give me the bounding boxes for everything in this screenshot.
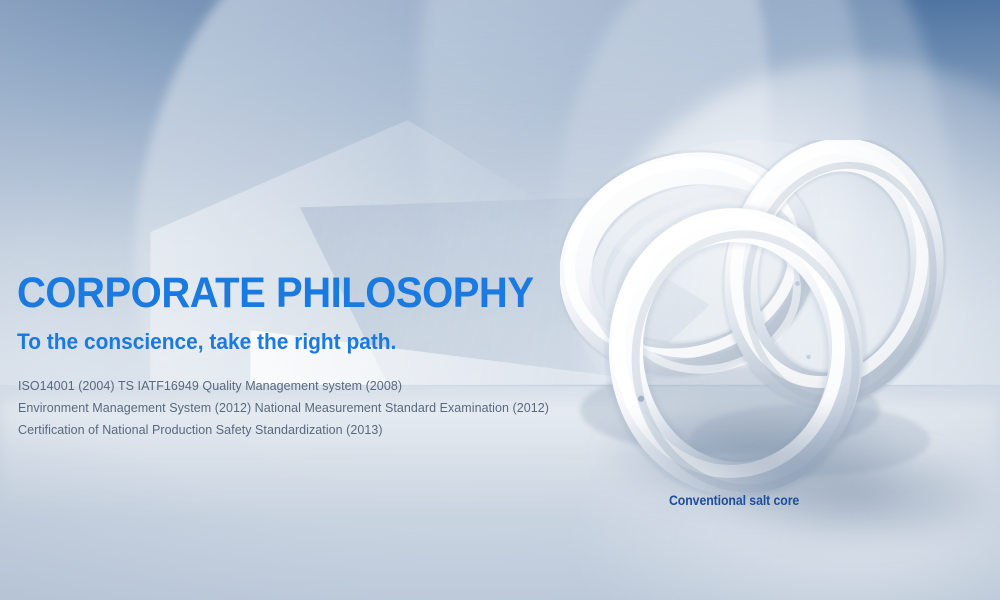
certification-line: ISO14001 (2004) TS IATF16949 Quality Man… [18,376,637,397]
certification-line: Certification of National Production Saf… [18,420,637,441]
page-subtitle: To the conscience, take the right path. [17,330,606,354]
certification-list: ISO14001 (2004) TS IATF16949 Quality Man… [18,376,637,441]
corporate-philosophy-banner: CORPORATE PHILOSOPHY To the conscience, … [0,0,1000,600]
certification-line: Environment Management System (2012) Nat… [18,398,637,419]
copy-block: CORPORATE PHILOSOPHY To the conscience, … [17,272,637,441]
product-caption: Conventional salt core [669,492,799,508]
page-title: CORPORATE PHILOSOPHY [17,272,594,316]
